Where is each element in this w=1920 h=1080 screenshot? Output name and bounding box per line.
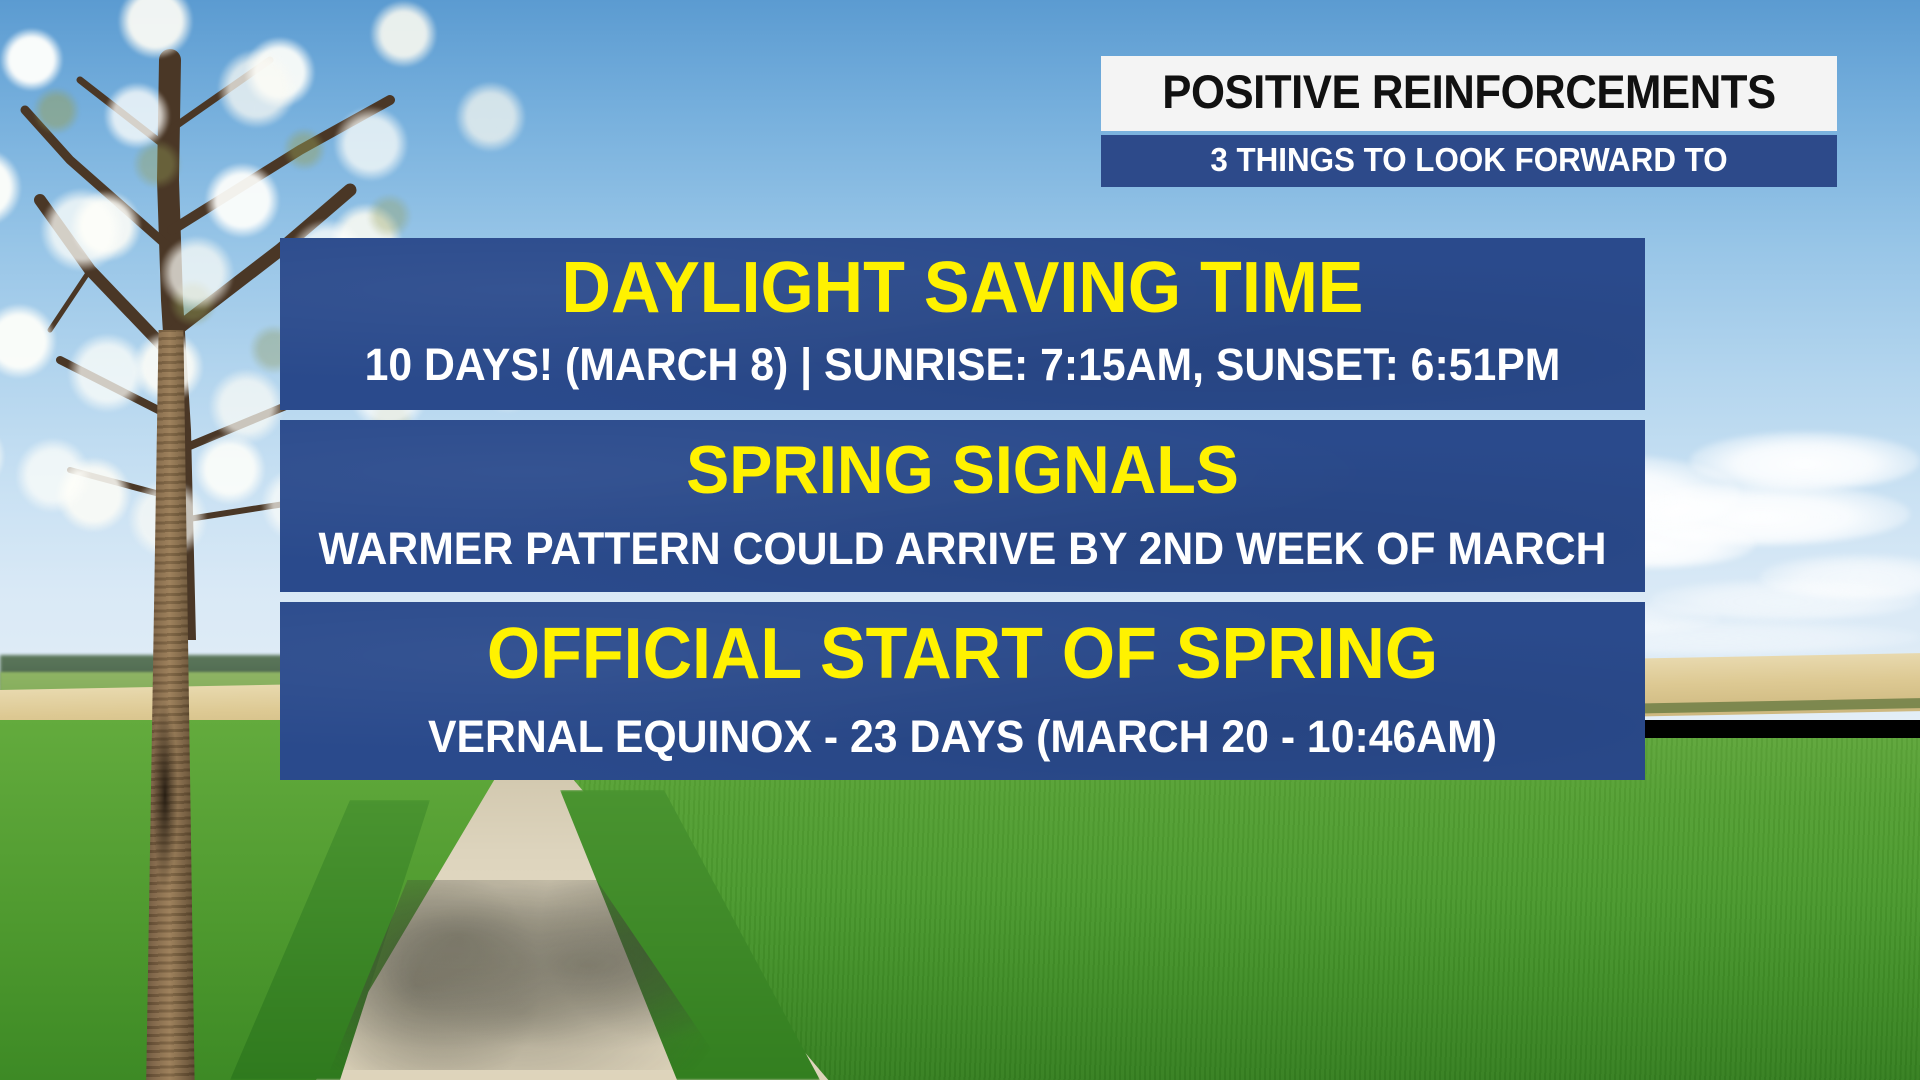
panel-headline: OFFICIAL START OF SPRING bbox=[314, 618, 1611, 691]
header-title-bar: POSITIVE REINFORCEMENTS bbox=[1101, 56, 1837, 131]
tree-trunk-shadow bbox=[152, 700, 178, 890]
panel-detail: 10 DAYS! (MARCH 8) | SUNRISE: 7:15AM, SU… bbox=[314, 341, 1611, 388]
page-subtitle: 3 THINGS TO LOOK FORWARD TO bbox=[1140, 142, 1797, 178]
panel-detail: WARMER PATTERN COULD ARRIVE BY 2ND WEEK … bbox=[314, 525, 1611, 572]
panel-headline: DAYLIGHT SAVING TIME bbox=[314, 252, 1611, 325]
header-subtitle-bar: 3 THINGS TO LOOK FORWARD TO bbox=[1101, 135, 1837, 187]
info-panel-official-start-of-spring: OFFICIAL START OF SPRING VERNAL EQUINOX … bbox=[280, 602, 1645, 780]
graphic-canvas: POSITIVE REINFORCEMENTS 3 THINGS TO LOOK… bbox=[0, 0, 1920, 1080]
page-title: POSITIVE REINFORCEMENTS bbox=[1147, 67, 1791, 118]
panel-headline: SPRING SIGNALS bbox=[314, 436, 1611, 505]
header-block: POSITIVE REINFORCEMENTS 3 THINGS TO LOOK… bbox=[1101, 56, 1837, 187]
info-panel-spring-signals: SPRING SIGNALS WARMER PATTERN COULD ARRI… bbox=[280, 420, 1645, 592]
panel-detail: VERNAL EQUINOX - 23 DAYS (MARCH 20 - 10:… bbox=[314, 713, 1611, 760]
info-panel-daylight-saving-time: DAYLIGHT SAVING TIME 10 DAYS! (MARCH 8) … bbox=[280, 238, 1645, 410]
